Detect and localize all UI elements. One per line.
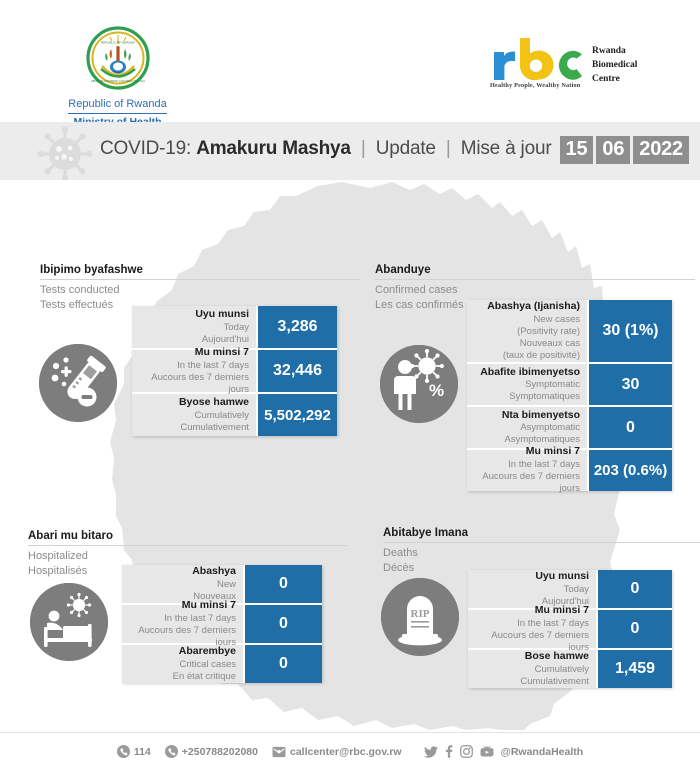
row-label: Byose hamwe Cumulatively Cumulativement xyxy=(132,394,256,436)
label-fr: En état critique xyxy=(128,671,236,683)
date-day: 15 xyxy=(560,136,594,164)
section-title-en: Confirmed cases xyxy=(375,283,695,298)
label-rw: Mu minsi 7 xyxy=(138,346,249,360)
rbc-name-line3: Centre xyxy=(592,73,637,87)
table-row: Mu minsi 7 In the last 7 days Aucours de… xyxy=(132,350,337,394)
rbc-tagline: Healthy People, Wealthy Nation xyxy=(490,82,580,89)
coronavirus-icon xyxy=(36,125,94,180)
table-tests: Uyu munsi Today Aujourd'hui 3,286 Mu min… xyxy=(132,306,337,436)
label-fr: Aucours des 7 derniers jours xyxy=(473,471,580,495)
band-title-rw: Amakuru Mashya xyxy=(196,138,351,159)
row-value: 0 xyxy=(596,610,672,648)
instagram-icon[interactable] xyxy=(460,745,473,758)
band-separator-2: | xyxy=(441,138,456,159)
table-row: Bose hamwe Cumulatively Cumulativement 1… xyxy=(468,650,672,688)
row-value: 1,459 xyxy=(596,650,672,688)
twitter-icon[interactable] xyxy=(424,746,438,758)
rbc-logo: Healthy People, Wealthy Nation Rwanda Bi… xyxy=(488,36,658,98)
table-row: Abarembye Critical cases En état critiqu… xyxy=(122,645,322,683)
footer: 114 +250788202080 callcenter@rbc.gov.rw xyxy=(0,732,700,781)
table-row: Abashya (Ijanisha) New cases (Positivity… xyxy=(467,300,672,364)
table-row: Byose hamwe Cumulatively Cumulativement … xyxy=(132,394,337,436)
label-en: New xyxy=(128,579,236,591)
footer-shortcode-text: 114 xyxy=(134,746,151,758)
rbc-logo-icon xyxy=(488,36,588,82)
label-en: Symptomatic xyxy=(473,379,580,391)
label-en-2: (Positivity rate) xyxy=(473,326,580,338)
hospital-bed-icon xyxy=(30,583,108,661)
label-en: Critical cases xyxy=(128,659,236,671)
table-row: Mu minsi 7 In the last 7 days Aucours de… xyxy=(467,450,672,491)
svg-text:RIP: RIP xyxy=(411,608,430,620)
row-value: 32,446 xyxy=(256,350,337,392)
band-title-fr: Mise à jour xyxy=(461,138,552,159)
label-en: In the last 7 days xyxy=(128,613,236,625)
footer-phone-text: +250788202080 xyxy=(182,746,258,758)
label-rw: Abafite ibimenyetso xyxy=(473,366,580,380)
rbc-name-line2: Biomedical xyxy=(592,59,637,73)
government-logo: REPUBLIC OF RWANDA UBUMWE UMURIMO GUKUND… xyxy=(55,22,180,128)
footer-social-handle: @RwandaHealth xyxy=(501,746,584,758)
label-rw: Uyu munsi xyxy=(474,570,589,584)
section-title-rw: Abanduye xyxy=(375,264,695,280)
rbc-name: Rwanda Biomedical Centre xyxy=(592,45,637,86)
label-rw: Abarembye xyxy=(128,645,236,659)
label-rw: Abashya xyxy=(128,565,236,579)
rbc-name-line1: Rwanda xyxy=(592,45,637,59)
row-value: 0 xyxy=(243,605,322,643)
row-value: 30 xyxy=(587,364,672,405)
row-value: 203 (0.6%) xyxy=(587,450,672,491)
label-fr: Aucours des 7 derniers jours xyxy=(138,372,249,396)
label-rw: Abashya (Ijanisha) xyxy=(473,300,580,314)
table-row: Nta bimenyetso Asymptomatic Asymptomatiq… xyxy=(467,407,672,450)
band-prefix: COVID-19: xyxy=(100,138,191,159)
label-fr: Symptomatiques xyxy=(473,391,580,403)
footer-shortcode[interactable]: 114 xyxy=(117,745,151,758)
label-en: Cumulatively xyxy=(138,410,249,422)
row-label: Abafite ibimenyetso Symptomatic Symptoma… xyxy=(467,364,587,405)
section-title-en: Tests conducted xyxy=(40,283,360,298)
logo-bar: REPUBLIC OF RWANDA UBUMWE UMURIMO GUKUND… xyxy=(0,0,700,122)
label-fr: Cumulativement xyxy=(474,676,589,688)
label-rw: Mu minsi 7 xyxy=(473,445,580,459)
label-fr: Cumulativement xyxy=(138,422,249,434)
svg-text:REPUBLIC OF RWANDA: REPUBLIC OF RWANDA xyxy=(100,41,134,45)
facebook-icon[interactable] xyxy=(445,745,453,758)
section-title-en: Deaths xyxy=(383,546,700,561)
row-label: Abarembye Critical cases En état critiqu… xyxy=(122,645,243,683)
phone-icon xyxy=(165,745,178,758)
section-deaths: Abitabye Imana Deaths Décès xyxy=(383,527,700,576)
row-value: 0 xyxy=(587,407,672,448)
table-row: Mu minsi 7 In the last 7 days Aucours de… xyxy=(468,610,672,650)
table-row: Mu minsi 7 In the last 7 days Aucours de… xyxy=(122,605,322,645)
band-title: COVID-19: Amakuru Mashya | Update | Mise… xyxy=(100,136,689,164)
row-label: Nta bimenyetso Asymptomatic Asymptomatiq… xyxy=(467,407,587,448)
row-label: Uyu munsi Today Aujourd'hui xyxy=(468,570,596,608)
label-en: In the last 7 days xyxy=(138,360,249,372)
label-en: New cases xyxy=(473,314,580,326)
row-value: 0 xyxy=(243,565,322,603)
footer-email[interactable]: callcenter@rbc.gov.rw xyxy=(272,746,402,758)
table-deaths: Uyu munsi Today Aujourd'hui 0 Mu minsi 7… xyxy=(468,570,672,688)
phone-icon xyxy=(117,745,130,758)
label-fr-2: (taux de positivité) xyxy=(473,350,580,362)
row-label: Mu minsi 7 In the last 7 days Aucours de… xyxy=(132,350,256,392)
row-label: Mu minsi 7 In the last 7 days Aucours de… xyxy=(122,605,243,643)
government-name: Republic of Rwanda xyxy=(68,98,166,114)
footer-contacts: 114 +250788202080 callcenter@rbc.gov.rw xyxy=(0,745,700,758)
table-row: Uyu munsi Today Aujourd'hui 3,286 xyxy=(132,306,337,350)
label-rw: Byose hamwe xyxy=(138,396,249,410)
label-en: Today xyxy=(474,584,589,596)
label-fr: Aujourd'hui xyxy=(138,334,249,346)
row-value: 5,502,292 xyxy=(256,394,337,436)
label-en: In the last 7 days xyxy=(473,459,580,471)
row-label: Uyu munsi Today Aujourd'hui xyxy=(132,306,256,348)
band-separator-1: | xyxy=(356,138,371,159)
test-tube-icon xyxy=(39,344,117,422)
row-value: 0 xyxy=(243,645,322,683)
footer-phone[interactable]: +250788202080 xyxy=(165,745,258,758)
row-value: 0 xyxy=(596,570,672,608)
person-virus-percent-icon: % xyxy=(380,345,458,423)
row-label: Abashya (Ijanisha) New cases (Positivity… xyxy=(467,300,587,362)
section-title-rw: Abari mu bitaro xyxy=(28,530,348,546)
row-label: Mu minsi 7 In the last 7 days Aucours de… xyxy=(467,450,587,491)
section-title-en: Hospitalized xyxy=(28,549,348,564)
label-en: In the last 7 days xyxy=(474,618,589,630)
date-month: 06 xyxy=(596,136,630,164)
label-rw: Bose hamwe xyxy=(474,650,589,664)
table-hospitalized: Abashya New Nouveaux 0 Mu minsi 7 In the… xyxy=(122,565,322,683)
youtube-icon[interactable] xyxy=(480,746,494,758)
label-en: Today xyxy=(138,322,249,334)
label-en: Asymptomatic xyxy=(473,422,580,434)
rwanda-coat-of-arms-icon: REPUBLIC OF RWANDA UBUMWE UMURIMO GUKUND… xyxy=(82,22,154,94)
row-value: 3,286 xyxy=(256,306,337,348)
footer-social: @RwandaHealth xyxy=(424,745,584,758)
tombstone-rip-icon: RIP xyxy=(381,578,459,656)
table-row: Abafite ibimenyetso Symptomatic Symptoma… xyxy=(467,364,672,407)
label-en: Cumulatively xyxy=(474,664,589,676)
email-icon xyxy=(272,746,286,758)
footer-email-text: callcenter@rbc.gov.rw xyxy=(290,746,402,758)
section-title-rw: Ibipimo byafashwe xyxy=(40,264,360,280)
section-title-rw: Abitabye Imana xyxy=(383,527,700,543)
label-rw: Mu minsi 7 xyxy=(128,599,236,613)
row-label: Mu minsi 7 In the last 7 days Aucours de… xyxy=(468,610,596,648)
label-rw: Mu minsi 7 xyxy=(474,604,589,618)
row-label: Bose hamwe Cumulatively Cumulativement xyxy=(468,650,596,688)
band-title-en: Update xyxy=(376,138,436,159)
row-value: 30 (1%) xyxy=(587,300,672,362)
label-rw: Nta bimenyetso xyxy=(473,409,580,423)
label-fr: Nouveaux cas xyxy=(473,338,580,350)
table-confirmed-cases: Abashya (Ijanisha) New cases (Positivity… xyxy=(467,300,672,491)
update-title-band: COVID-19: Amakuru Mashya | Update | Mise… xyxy=(0,122,700,180)
svg-text:UBUMWE UMURIMO GUKUNDA IGIHUGU: UBUMWE UMURIMO GUKUNDA IGIHUGU xyxy=(90,79,145,83)
date-year: 2022 xyxy=(633,136,689,164)
svg-text:%: % xyxy=(429,381,444,400)
label-rw: Uyu munsi xyxy=(138,308,249,322)
row-label: Abashya New Nouveaux xyxy=(122,565,243,603)
